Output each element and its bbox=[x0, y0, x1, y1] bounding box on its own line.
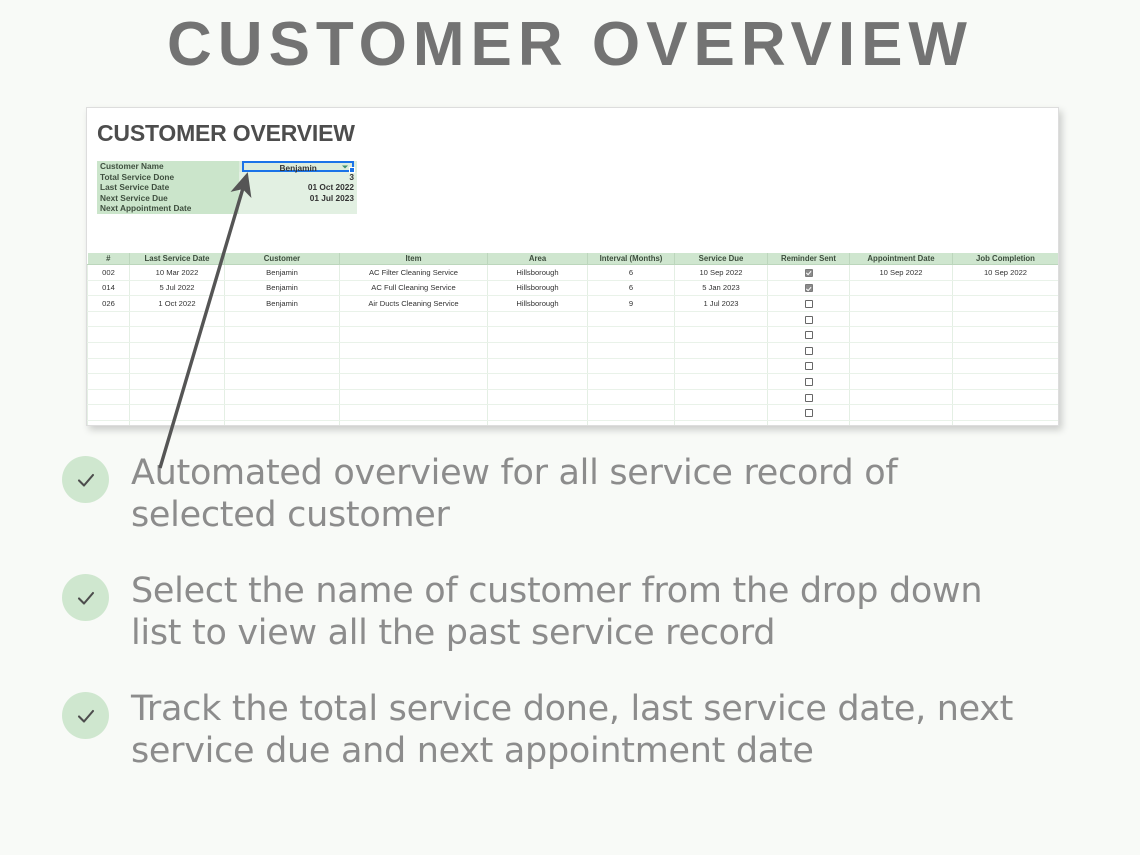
area: Hillsborough bbox=[488, 296, 588, 312]
empty-cell bbox=[88, 327, 130, 343]
table-row-empty[interactable] bbox=[88, 358, 1059, 374]
job-completion bbox=[953, 280, 1059, 296]
empty-cell bbox=[850, 358, 953, 374]
last-service-date: 5 Jul 2022 bbox=[130, 280, 225, 296]
empty-cell bbox=[88, 405, 130, 421]
reminder-sent-cell[interactable] bbox=[768, 265, 850, 281]
selection-handle[interactable] bbox=[349, 167, 355, 173]
empty-cell bbox=[225, 420, 340, 426]
empty-cell bbox=[225, 374, 340, 390]
empty-cell bbox=[340, 358, 488, 374]
row-number: 002 bbox=[88, 265, 130, 281]
empty-cell bbox=[850, 405, 953, 421]
reminder-sent-cell[interactable] bbox=[768, 420, 850, 426]
summary-row: Total Service Done3 bbox=[97, 172, 357, 182]
empty-cell bbox=[340, 327, 488, 343]
summary-value: 3 bbox=[239, 172, 357, 182]
reminder-sent-cell[interactable] bbox=[768, 327, 850, 343]
item-name: Air Ducts Cleaning Service bbox=[340, 296, 488, 312]
empty-cell bbox=[488, 420, 588, 426]
summary-label: Total Service Done bbox=[97, 172, 239, 182]
reminder-sent-cell[interactable] bbox=[768, 280, 850, 296]
empty-cell bbox=[225, 405, 340, 421]
column-header: Reminder Sent bbox=[768, 253, 850, 265]
row-number: 026 bbox=[88, 296, 130, 312]
last-service-date: 1 Oct 2022 bbox=[130, 296, 225, 312]
summary-label: Customer Name bbox=[97, 161, 239, 172]
empty-cell bbox=[588, 374, 675, 390]
chevron-down-icon[interactable] bbox=[342, 165, 348, 168]
empty-cell bbox=[953, 405, 1059, 421]
empty-cell bbox=[588, 311, 675, 327]
empty-cell bbox=[340, 374, 488, 390]
reminder-sent-checkbox[interactable] bbox=[805, 347, 813, 355]
reminder-sent-checkbox[interactable] bbox=[805, 425, 813, 426]
empty-cell bbox=[225, 327, 340, 343]
feature-list: Automated overview for all service recor… bbox=[62, 452, 1082, 806]
customer-name: Benjamin bbox=[225, 265, 340, 281]
empty-cell bbox=[88, 374, 130, 390]
service-due: 10 Sep 2022 bbox=[675, 265, 768, 281]
summary-row: Last Service Date01 Oct 2022 bbox=[97, 182, 357, 192]
empty-cell bbox=[130, 374, 225, 390]
empty-cell bbox=[488, 389, 588, 405]
table-row-empty[interactable] bbox=[88, 389, 1059, 405]
empty-cell bbox=[130, 358, 225, 374]
empty-cell bbox=[588, 327, 675, 343]
column-header: Item bbox=[340, 253, 488, 265]
reminder-sent-checkbox[interactable] bbox=[805, 316, 813, 324]
reminder-sent-checkbox[interactable] bbox=[805, 284, 813, 292]
empty-cell bbox=[850, 311, 953, 327]
row-number: 014 bbox=[88, 280, 130, 296]
reminder-sent-cell[interactable] bbox=[768, 296, 850, 312]
empty-cell bbox=[88, 420, 130, 426]
empty-cell bbox=[488, 311, 588, 327]
column-header: Area bbox=[488, 253, 588, 265]
list-item: Select the name of customer from the dro… bbox=[62, 570, 1082, 654]
empty-cell bbox=[675, 327, 768, 343]
empty-cell bbox=[130, 342, 225, 358]
table-row[interactable]: 0145 Jul 2022BenjaminAC Full Cleaning Se… bbox=[88, 280, 1059, 296]
reminder-sent-checkbox[interactable] bbox=[805, 300, 813, 308]
reminder-sent-cell[interactable] bbox=[768, 358, 850, 374]
empty-cell bbox=[88, 358, 130, 374]
reminder-sent-checkbox[interactable] bbox=[805, 331, 813, 339]
reminder-sent-cell[interactable] bbox=[768, 374, 850, 390]
summary-label: Next Service Due bbox=[97, 193, 239, 203]
column-header: Interval (Months) bbox=[588, 253, 675, 265]
empty-cell bbox=[953, 374, 1059, 390]
customer-name: Benjamin bbox=[225, 296, 340, 312]
summary-value: 01 Jul 2023 bbox=[239, 193, 357, 203]
empty-cell bbox=[675, 311, 768, 327]
empty-cell bbox=[340, 420, 488, 426]
empty-cell bbox=[225, 389, 340, 405]
reminder-sent-checkbox[interactable] bbox=[805, 378, 813, 386]
summary-row: Next Appointment Date bbox=[97, 203, 357, 213]
sheet-title: CUSTOMER OVERVIEW bbox=[97, 120, 1058, 147]
table-row[interactable]: 00210 Mar 2022BenjaminAC Filter Cleaning… bbox=[88, 265, 1059, 281]
empty-cell bbox=[675, 358, 768, 374]
empty-cell bbox=[850, 327, 953, 343]
empty-cell bbox=[850, 374, 953, 390]
table-row-empty[interactable] bbox=[88, 327, 1059, 343]
summary-value bbox=[239, 203, 357, 213]
interval-months: 9 bbox=[588, 296, 675, 312]
column-header: Appointment Date bbox=[850, 253, 953, 265]
table-row-empty[interactable] bbox=[88, 374, 1059, 390]
spreadsheet-panel: CUSTOMER OVERVIEW Customer NameBenjaminT… bbox=[86, 107, 1059, 426]
empty-cell bbox=[588, 420, 675, 426]
empty-cell bbox=[675, 405, 768, 421]
reminder-sent-cell[interactable] bbox=[768, 405, 850, 421]
customer-name: Benjamin bbox=[225, 280, 340, 296]
service-due: 5 Jan 2023 bbox=[675, 280, 768, 296]
interval-months: 6 bbox=[588, 280, 675, 296]
last-service-date: 10 Mar 2022 bbox=[130, 265, 225, 281]
reminder-sent-checkbox[interactable] bbox=[805, 269, 813, 277]
empty-cell bbox=[488, 374, 588, 390]
empty-cell bbox=[850, 342, 953, 358]
column-header: # bbox=[88, 253, 130, 265]
empty-cell bbox=[953, 327, 1059, 343]
check-icon bbox=[62, 456, 109, 503]
empty-cell bbox=[488, 327, 588, 343]
empty-cell bbox=[588, 389, 675, 405]
column-header: Customer bbox=[225, 253, 340, 265]
empty-cell bbox=[588, 358, 675, 374]
reminder-sent-cell[interactable] bbox=[768, 311, 850, 327]
column-header: Last Service Date bbox=[130, 253, 225, 265]
job-completion bbox=[953, 296, 1059, 312]
empty-cell bbox=[675, 342, 768, 358]
table-row-empty[interactable] bbox=[88, 420, 1059, 426]
service-due: 1 Jul 2023 bbox=[675, 296, 768, 312]
feature-text: Track the total service done, last servi… bbox=[131, 688, 1031, 772]
job-completion: 10 Sep 2022 bbox=[953, 265, 1059, 281]
empty-cell bbox=[588, 342, 675, 358]
reminder-sent-cell[interactable] bbox=[768, 342, 850, 358]
empty-cell bbox=[488, 358, 588, 374]
empty-cell bbox=[340, 342, 488, 358]
empty-cell bbox=[340, 405, 488, 421]
check-icon bbox=[62, 692, 109, 739]
summary-value: 01 Oct 2022 bbox=[239, 182, 357, 192]
empty-cell bbox=[88, 342, 130, 358]
empty-cell bbox=[225, 358, 340, 374]
feature-text: Automated overview for all service recor… bbox=[131, 452, 1031, 536]
empty-cell bbox=[340, 389, 488, 405]
empty-cell bbox=[488, 405, 588, 421]
feature-text: Select the name of customer from the dro… bbox=[131, 570, 1031, 654]
empty-cell bbox=[225, 311, 340, 327]
empty-cell bbox=[588, 405, 675, 421]
item-name: AC Full Cleaning Service bbox=[340, 280, 488, 296]
table-header-row: #Last Service DateCustomerItemAreaInterv… bbox=[88, 253, 1059, 265]
appointment-date: 10 Sep 2022 bbox=[850, 265, 953, 281]
empty-cell bbox=[88, 311, 130, 327]
table-row-empty[interactable] bbox=[88, 342, 1059, 358]
list-item: Automated overview for all service recor… bbox=[62, 452, 1082, 536]
area: Hillsborough bbox=[488, 280, 588, 296]
column-header: Job Completion bbox=[953, 253, 1059, 265]
customer-name-dropdown[interactable]: Benjamin bbox=[239, 161, 357, 172]
empty-cell bbox=[130, 311, 225, 327]
empty-cell bbox=[340, 311, 488, 327]
table-row-empty[interactable] bbox=[88, 405, 1059, 421]
summary-label: Next Appointment Date bbox=[97, 203, 239, 213]
summary-label: Last Service Date bbox=[97, 182, 239, 192]
dropdown-value: Benjamin bbox=[244, 163, 352, 173]
empty-cell bbox=[953, 342, 1059, 358]
interval-months: 6 bbox=[588, 265, 675, 281]
service-records-table: #Last Service DateCustomerItemAreaInterv… bbox=[87, 253, 1059, 426]
empty-cell bbox=[953, 389, 1059, 405]
empty-cell bbox=[675, 389, 768, 405]
empty-cell bbox=[130, 405, 225, 421]
table-row[interactable]: 0261 Oct 2022BenjaminAir Ducts Cleaning … bbox=[88, 296, 1059, 312]
empty-cell bbox=[953, 420, 1059, 426]
reminder-sent-checkbox[interactable] bbox=[805, 362, 813, 370]
empty-cell bbox=[675, 420, 768, 426]
empty-cell bbox=[850, 389, 953, 405]
reminder-sent-checkbox[interactable] bbox=[805, 394, 813, 402]
item-name: AC Filter Cleaning Service bbox=[340, 265, 488, 281]
summary-row: Next Service Due01 Jul 2023 bbox=[97, 193, 357, 203]
empty-cell bbox=[130, 389, 225, 405]
empty-cell bbox=[953, 311, 1059, 327]
appointment-date bbox=[850, 296, 953, 312]
page-title: CUSTOMER OVERVIEW bbox=[0, 0, 1140, 76]
appointment-date bbox=[850, 280, 953, 296]
table-row-empty[interactable] bbox=[88, 311, 1059, 327]
empty-cell bbox=[225, 342, 340, 358]
summary-block: Customer NameBenjaminTotal Service Done3… bbox=[97, 161, 357, 214]
summary-row: Customer NameBenjamin bbox=[97, 161, 357, 172]
area: Hillsborough bbox=[488, 265, 588, 281]
empty-cell bbox=[953, 358, 1059, 374]
empty-cell bbox=[850, 420, 953, 426]
reminder-sent-checkbox[interactable] bbox=[805, 409, 813, 417]
empty-cell bbox=[488, 342, 588, 358]
reminder-sent-cell[interactable] bbox=[768, 389, 850, 405]
column-header: Service Due bbox=[675, 253, 768, 265]
empty-cell bbox=[130, 420, 225, 426]
list-item: Track the total service done, last servi… bbox=[62, 688, 1082, 772]
check-icon bbox=[62, 574, 109, 621]
empty-cell bbox=[675, 374, 768, 390]
empty-cell bbox=[88, 389, 130, 405]
empty-cell bbox=[130, 327, 225, 343]
